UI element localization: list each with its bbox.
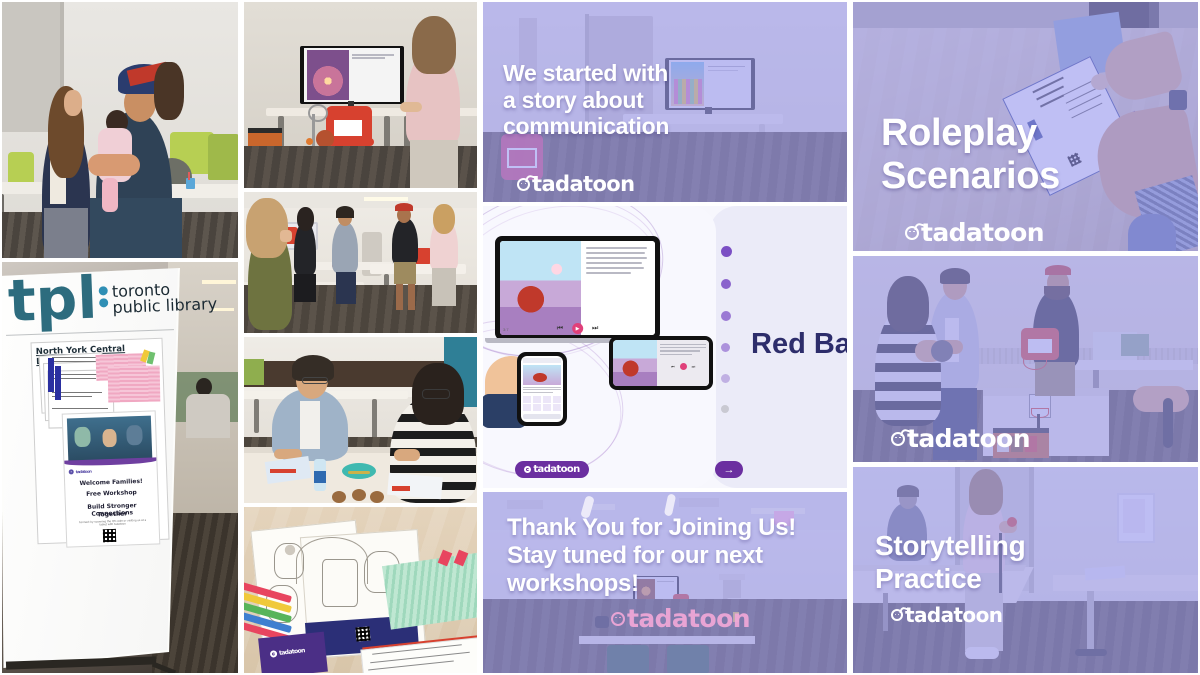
brand-name: tadatoon <box>532 172 634 196</box>
slide-title-line-1: Thank You for Joining Us! <box>507 514 796 542</box>
photo-collage: tpl toronto public library North York Ce… <box>0 0 1200 675</box>
flyer-brand-logo: tadatoon <box>69 469 92 475</box>
product-slide: 3:7 ⏮ ▶ ⏭ <box>483 206 847 488</box>
player-time: 3:7 <box>503 327 509 332</box>
slide-title-line-2: Practice <box>875 562 1025 595</box>
slide-story[interactable]: We started with a story about communicat… <box>483 2 847 202</box>
slide-roleplay[interactable]: Roleplay Scenarios tadatoon <box>853 2 1198 251</box>
carousel-dot[interactable] <box>721 405 729 413</box>
photo-content <box>244 2 477 188</box>
story-illustration <box>500 241 581 335</box>
flyer-line2: Free Workshop <box>65 488 157 498</box>
photo-presenter-tv[interactable] <box>244 2 477 188</box>
next-track-icon[interactable]: ⏭ <box>592 325 598 333</box>
tadatoon-pill-logo[interactable]: tadatoon <box>515 461 589 478</box>
carousel-dot[interactable] <box>721 343 730 352</box>
baby-face-icon <box>611 612 625 626</box>
carousel-dot[interactable] <box>721 279 731 289</box>
slide-title-line-1: Roleplay <box>881 112 1060 155</box>
carousel-dot[interactable] <box>721 246 732 257</box>
brand-name: tadatoon <box>627 604 750 633</box>
tadatoon-logo: tadatoon <box>611 604 750 633</box>
slide-title: Thank You for Joining Us! Stay tuned for… <box>507 514 796 597</box>
slide-product[interactable]: 3:7 ⏮ ▶ ⏭ <box>483 206 847 488</box>
photo-group-standing[interactable] <box>244 192 477 333</box>
sticky-note <box>108 366 161 403</box>
product-headline: Red Ball <box>751 328 847 361</box>
brand-name: tadatoon <box>907 424 1030 453</box>
photo-pair-activity[interactable] <box>244 337 477 503</box>
photo-content <box>244 337 477 503</box>
photo-content: tpl toronto public library North York Ce… <box>2 262 238 673</box>
slide-title-line-3: workshops! <box>507 570 796 598</box>
phone-mockup <box>517 352 567 426</box>
baby-face-icon <box>905 226 919 240</box>
slide-title-line-1: We started with <box>503 60 669 87</box>
slide-title-line-3: communication <box>503 113 669 140</box>
baby-face-icon <box>517 178 530 191</box>
tv-screen <box>300 46 404 104</box>
flyer-fineprint: Connect by scanning the QR code or visit… <box>66 518 158 528</box>
next-track-icon[interactable]: ⏭ <box>692 364 696 369</box>
slide-title: We started with a story about communicat… <box>503 60 669 140</box>
carousel-dots[interactable] <box>721 246 732 413</box>
story-text <box>581 241 655 335</box>
flyer-line1: Welcome Families! <box>65 477 157 487</box>
slide-title: Roleplay Scenarios <box>881 112 1060 197</box>
slide-storytelling[interactable]: Storytelling Practice tadatoon <box>853 467 1198 673</box>
carousel-dot[interactable] <box>721 311 731 321</box>
play-icon[interactable] <box>680 363 687 370</box>
baby-face-icon <box>891 432 905 446</box>
photo-audience[interactable] <box>2 2 238 258</box>
tablet-mockup: ⏮ ⏭ <box>609 336 713 390</box>
photo-content <box>244 192 477 333</box>
slide-title-line-2: Scenarios <box>881 155 1060 198</box>
qr-code-icon <box>103 529 116 542</box>
workshop-flyer: tadatoon Welcome Families! Free Workshop… <box>62 410 161 547</box>
play-icon[interactable]: ▶ <box>572 323 583 334</box>
tadatoon-logo: tadatoon <box>891 603 1002 627</box>
tadatoon-logo: tadatoon <box>517 172 634 196</box>
baby-face-icon <box>891 609 903 621</box>
prev-track-icon[interactable]: ⏮ <box>671 364 675 369</box>
slide-title-line-2: a story about <box>503 87 669 114</box>
tpl-wordmark: tpl <box>7 275 98 326</box>
tpl-logo: tpl toronto public library <box>7 270 217 326</box>
slide-title-line-1: Storytelling <box>875 529 1025 562</box>
next-arrow-button[interactable]: → <box>715 461 743 478</box>
brand-name: tadatoon <box>921 218 1044 247</box>
qr-code-icon <box>356 627 371 642</box>
brand-name: tadatoon <box>533 464 579 475</box>
photo-materials[interactable]: tadatoon <box>244 507 477 673</box>
slide-title-line-2: Stay tuned for our next <box>507 542 796 570</box>
slide-thanks[interactable]: Thank You for Joining Us! Stay tuned for… <box>483 492 847 673</box>
brand-name: tadatoon <box>905 603 1002 627</box>
tadatoon-logo: tadatoon <box>905 218 1044 247</box>
tpl-line2: public library <box>112 296 217 316</box>
baby-face-icon <box>524 466 531 473</box>
slide-hoop[interactable]: tadatoon <box>853 256 1198 462</box>
tpl-dots-icon <box>98 276 108 307</box>
photo-content <box>2 2 238 258</box>
carousel-dot[interactable] <box>721 374 730 383</box>
flyer-brand-name: tadatoon <box>76 469 92 475</box>
prev-track-icon[interactable]: ⏮ <box>557 325 563 333</box>
laptop-mockup: 3:7 ⏮ ▶ ⏭ <box>495 236 660 340</box>
tadatoon-logo: tadatoon <box>891 424 1030 453</box>
slide-title: Storytelling Practice <box>875 529 1025 595</box>
poster-tpl[interactable]: tpl toronto public library North York Ce… <box>2 262 238 673</box>
photo-content: tadatoon <box>244 507 477 673</box>
